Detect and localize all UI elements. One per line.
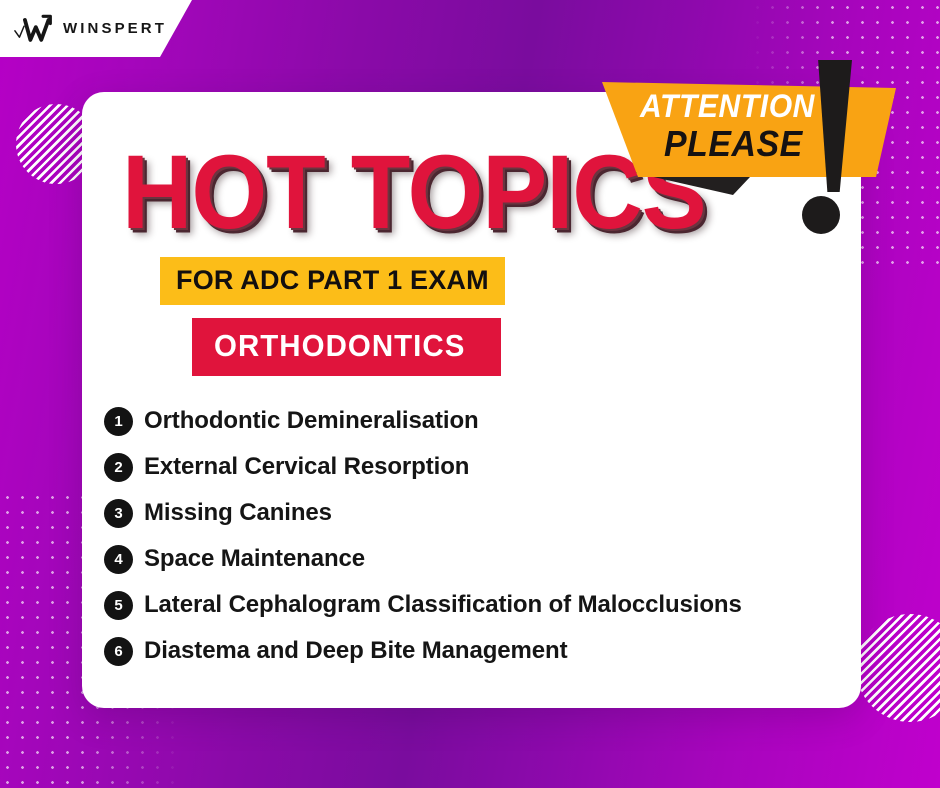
topic-list-item: 5Lateral Cephalogram Classification of M…: [104, 588, 834, 622]
attention-banner: ATTENTION PLEASE: [596, 72, 896, 177]
banner-text-group: ATTENTION PLEASE: [596, 82, 896, 177]
topic-number-badge: 5: [104, 591, 133, 620]
poster-canvas: WINSPERT ATTENTION PLEASE HOT TOPICS FOR…: [0, 0, 940, 788]
topic-label: Lateral Cephalogram Classification of Ma…: [144, 591, 742, 619]
topic-list-item: 1Orthodontic Demineralisation: [104, 404, 834, 438]
brand-name: WINSPERT: [63, 20, 167, 37]
topic-label: Orthodontic Demineralisation: [144, 407, 479, 435]
striped-circle-right-decoration: [856, 614, 940, 722]
topic-label: Space Maintenance: [144, 545, 365, 573]
topic-number-badge: 1: [104, 407, 133, 436]
topic-label: Diastema and Deep Bite Management: [144, 637, 568, 665]
banner-line-please: PLEASE: [664, 126, 882, 162]
topics-list: 1Orthodontic Demineralisation2External C…: [104, 404, 834, 680]
category-label: ORTHODONTICS: [214, 328, 465, 364]
subtitle-banner: FOR ADC PART 1 EXAM: [160, 257, 505, 305]
topic-list-item: 4Space Maintenance: [104, 542, 834, 576]
upward-arrow-w-logo-icon: [14, 12, 54, 46]
topic-number-badge: 4: [104, 545, 133, 574]
topic-label: Missing Canines: [144, 499, 332, 527]
topic-list-item: 2External Cervical Resorption: [104, 450, 834, 484]
topic-label: External Cervical Resorption: [144, 453, 469, 481]
brand-logo-tab[interactable]: WINSPERT: [0, 0, 192, 57]
topic-list-item: 6Diastema and Deep Bite Management: [104, 634, 834, 668]
topic-list-item: 3Missing Canines: [104, 496, 834, 530]
topic-number-badge: 6: [104, 637, 133, 666]
category-banner: ORTHODONTICS: [192, 318, 501, 376]
topic-number-badge: 2: [104, 453, 133, 482]
subtitle-label: FOR ADC PART 1 EXAM: [176, 265, 489, 295]
topic-number-badge: 3: [104, 499, 133, 528]
exclamation-mark-dot-icon: [802, 196, 840, 234]
